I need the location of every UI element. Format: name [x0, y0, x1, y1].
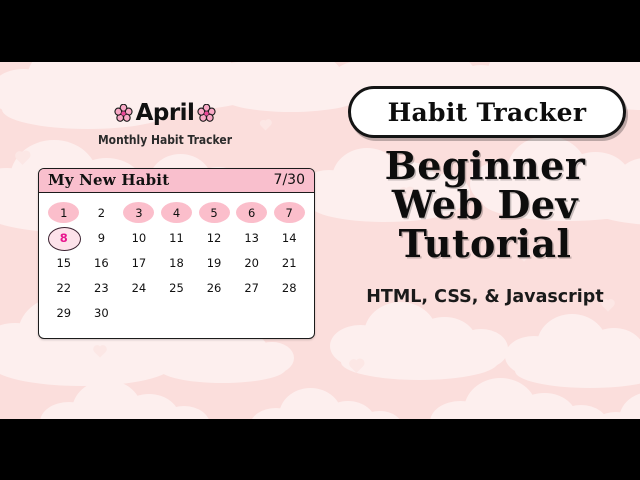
calendar-day[interactable]: 27 — [233, 276, 271, 299]
calendar-day-number: 17 — [132, 256, 147, 270]
calendar-day-number: 13 — [244, 231, 259, 245]
calendar-day[interactable]: 20 — [233, 251, 271, 274]
calendar-day-number: 2 — [98, 206, 105, 220]
calendar-day-number: 14 — [282, 231, 297, 245]
calendar-day[interactable]: 4 — [158, 201, 196, 224]
month-label: April — [136, 102, 195, 125]
promo-headline-line: Web Dev — [340, 185, 630, 224]
calendar-day[interactable]: 14 — [270, 226, 308, 249]
calendar-day[interactable]: 25 — [158, 276, 196, 299]
habit-progress-count: 7/30 — [274, 172, 305, 188]
promo-headline: BeginnerWeb DevTutorial — [340, 146, 630, 263]
calendar-day[interactable]: 6 — [233, 201, 271, 224]
calendar-day-number: 10 — [132, 231, 147, 245]
calendar-day[interactable]: 30 — [83, 301, 121, 324]
letterbox-top — [0, 0, 640, 62]
calendar-day[interactable]: 10 — [120, 226, 158, 249]
letterbox-bottom — [0, 419, 640, 480]
habit-tracker-badge: Habit Tracker — [348, 86, 626, 138]
calendar-day-number: 22 — [56, 281, 71, 295]
calendar-day[interactable]: 22 — [45, 276, 83, 299]
calendar-day[interactable]: 7 — [270, 201, 308, 224]
calendar-day[interactable]: 1 — [45, 201, 83, 224]
calendar-day-number: 7 — [286, 206, 293, 220]
calendar-day-grid[interactable]: 1234567891011121314151617181920212223242… — [39, 193, 314, 338]
calendar-day[interactable]: 21 — [270, 251, 308, 274]
calendar-day-number: 29 — [56, 306, 71, 320]
calendar-day[interactable]: 9 — [83, 226, 121, 249]
calendar-day[interactable]: 16 — [83, 251, 121, 274]
calendar-day[interactable]: 17 — [120, 251, 158, 274]
calendar-day-number: 3 — [135, 206, 142, 220]
calendar-day[interactable]: 18 — [158, 251, 196, 274]
calendar-day-number: 8 — [60, 231, 68, 245]
calendar-day[interactable]: 11 — [158, 226, 196, 249]
calendar-day[interactable]: 23 — [83, 276, 121, 299]
calendar-day-number: 5 — [210, 206, 217, 220]
calendar-day-number: 30 — [94, 306, 109, 320]
calendar-day-number: 15 — [56, 256, 71, 270]
calendar-day[interactable]: 5 — [195, 201, 233, 224]
calendar-day[interactable]: 3 — [120, 201, 158, 224]
video-frame: April Monthly Habit Tracker My New Habit — [0, 0, 640, 480]
calendar-day[interactable]: 15 — [45, 251, 83, 274]
calendar-day[interactable]: 24 — [120, 276, 158, 299]
badge-label: Habit Tracker — [388, 98, 587, 127]
calendar-day[interactable]: 2 — [83, 201, 121, 224]
cherry-blossom-icon — [197, 104, 216, 123]
calendar-day-number: 24 — [132, 281, 147, 295]
calendar-day-number: 28 — [282, 281, 297, 295]
promo-panel: Habit Tracker BeginnerWeb DevTutorial HT… — [330, 62, 640, 419]
calendar-day-number: 1 — [60, 206, 67, 220]
habit-name[interactable]: My New Habit — [48, 171, 169, 189]
cherry-blossom-icon — [114, 104, 133, 123]
calendar-day-number: 18 — [169, 256, 184, 270]
thumbnail-canvas: April Monthly Habit Tracker My New Habit — [0, 62, 640, 419]
calendar-day-number: 6 — [248, 206, 255, 220]
calendar-day[interactable]: 29 — [45, 301, 83, 324]
calendar-day[interactable]: 13 — [233, 226, 271, 249]
calendar-day-number: 16 — [94, 256, 109, 270]
promo-headline-line: Tutorial — [340, 224, 630, 263]
calendar-day[interactable]: 8 — [45, 226, 83, 249]
calendar-day-number: 4 — [173, 206, 180, 220]
calendar-day[interactable]: 12 — [195, 226, 233, 249]
calendar-day-number: 9 — [98, 231, 105, 245]
month-title-row: April — [0, 102, 330, 125]
calendar-day-number: 11 — [169, 231, 184, 245]
calendar-day-number: 26 — [207, 281, 222, 295]
calendar-day-number: 20 — [244, 256, 259, 270]
calendar-day-number: 27 — [244, 281, 259, 295]
tracker-subtitle: Monthly Habit Tracker — [23, 132, 307, 147]
habit-tracker-panel: April Monthly Habit Tracker My New Habit — [0, 62, 330, 419]
habit-card-header: My New Habit 7/30 — [39, 169, 314, 193]
habit-card[interactable]: My New Habit 7/30 1234567891011121314151… — [38, 168, 315, 339]
promo-tagline: HTML, CSS, & Javascript — [340, 287, 630, 307]
calendar-day[interactable]: 19 — [195, 251, 233, 274]
calendar-day-number: 25 — [169, 281, 184, 295]
calendar-day[interactable]: 26 — [195, 276, 233, 299]
calendar-day-number: 12 — [207, 231, 222, 245]
calendar-day-number: 21 — [282, 256, 297, 270]
calendar-day[interactable]: 28 — [270, 276, 308, 299]
calendar-day-number: 19 — [207, 256, 222, 270]
promo-headline-line: Beginner — [340, 146, 630, 185]
calendar-day-number: 23 — [94, 281, 109, 295]
